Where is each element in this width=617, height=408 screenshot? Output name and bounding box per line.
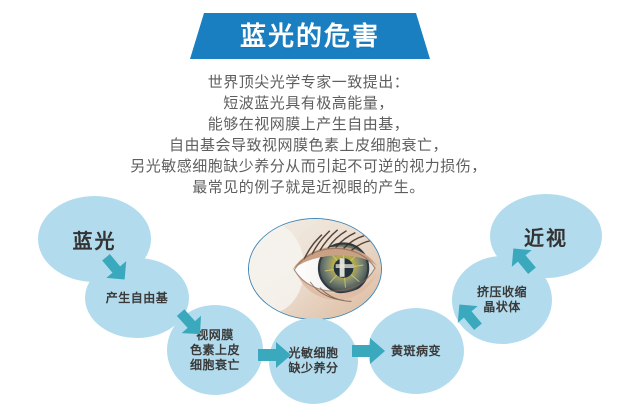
arrow-icon-macular-to-lens [452, 300, 492, 336]
flow-node-blue-light-label: 蓝光 [73, 225, 117, 254]
arrow-icon-blue-light-to-free-radical [98, 252, 138, 288]
paragraph-line-4: 自由基会导致视网膜色素上皮细胞衰亡， [0, 135, 617, 156]
flow-node-macular-label: 黄斑病变 [391, 344, 441, 359]
paragraph-line-5: 另光敏感细胞缺少养分从而引起不可逆的视力损伤， [0, 156, 617, 177]
paragraph-line-3: 能够在视网膜上产生自由基， [0, 114, 617, 135]
paragraph-line-2: 短波蓝光具有极高能量， [0, 93, 617, 114]
eye-photo [248, 218, 382, 320]
flow-node-photocell-label: 光敏细胞 缺少养分 [288, 346, 338, 376]
flow-node-free-radical-label: 产生自由基 [106, 291, 169, 305]
page-title: 蓝光的危害 [240, 23, 380, 49]
eye-illustration-icon [249, 219, 381, 319]
arrow-icon-free-radical-to-retina [173, 307, 213, 343]
arrow-icon-retina-to-photocell [258, 340, 294, 370]
title-banner: 蓝光的危害 [190, 13, 430, 59]
arrow-icon-photocell-to-macular [352, 336, 388, 366]
paragraph-line-6: 最常见的例子就是近视眼的产生。 [0, 177, 617, 198]
infographic-root: 蓝光的危害 世界顶尖光学专家一致提出： 短波蓝光具有极高能量， 能够在视网膜上产… [0, 0, 617, 408]
arrow-icon-lens-to-myopia [506, 244, 546, 280]
intro-paragraph: 世界顶尖光学专家一致提出： 短波蓝光具有极高能量， 能够在视网膜上产生自由基， … [0, 72, 617, 198]
paragraph-line-1: 世界顶尖光学专家一致提出： [0, 72, 617, 93]
